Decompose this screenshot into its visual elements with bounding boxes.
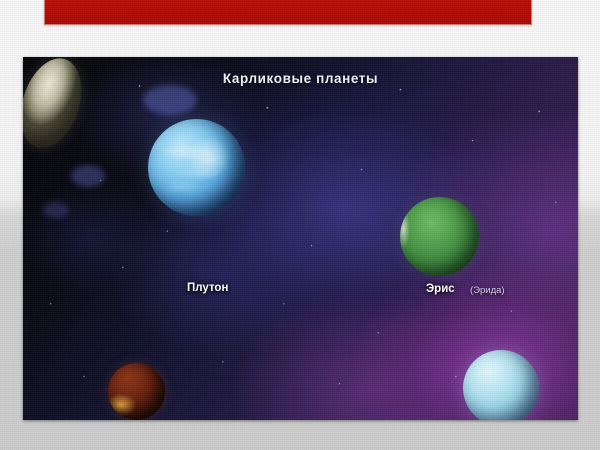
slide-title-text bbox=[45, 0, 531, 24]
image-title: Карликовые планеты bbox=[23, 71, 578, 86]
planet-label-pluto: Плутон bbox=[187, 282, 228, 294]
presentation-slide: Карликовые планеты Плутон Эрис (Эрида) Ц… bbox=[0, 0, 600, 450]
planet-label-eris: Эрис bbox=[426, 283, 455, 295]
star-cluster-icon bbox=[143, 85, 197, 115]
star-cluster-icon bbox=[71, 165, 105, 187]
planet-pluto bbox=[148, 119, 245, 216]
planet-ceres bbox=[108, 363, 165, 420]
planet-sublabel-eris: (Эрида) bbox=[470, 285, 505, 296]
dwarf-planets-image: Карликовые планеты Плутон Эрис (Эрида) Ц… bbox=[23, 57, 578, 420]
planet-makemake bbox=[463, 350, 539, 420]
star-cluster-icon bbox=[43, 202, 69, 218]
slide-title-banner bbox=[44, 0, 532, 25]
planet-eris bbox=[400, 197, 479, 276]
